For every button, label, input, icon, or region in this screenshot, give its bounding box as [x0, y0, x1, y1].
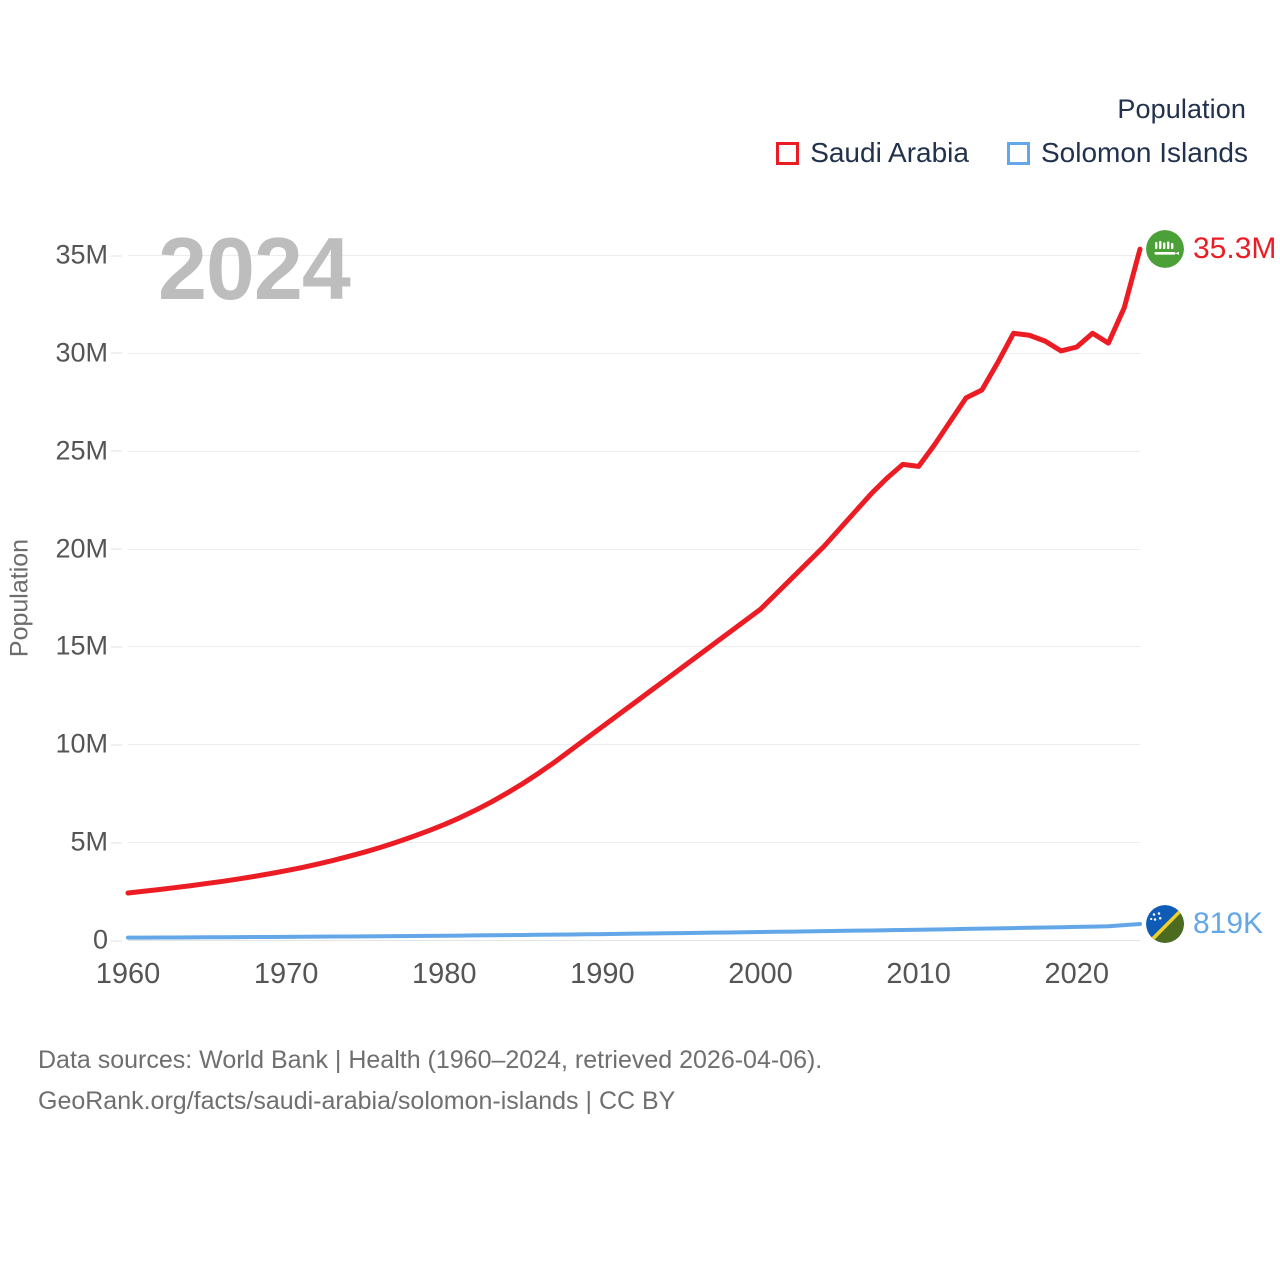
x-axis-tick-label: 2000: [728, 958, 793, 991]
legend-swatch-icon-solomon-islands: [1007, 142, 1030, 165]
line-saudi-arabia[interactable]: [128, 249, 1140, 893]
endpoint-solomon-islands[interactable]: 819K: [1146, 905, 1263, 943]
x-axis-tick-label: 1960: [96, 958, 161, 991]
legend-item-saudi-arabia[interactable]: Saudi Arabia: [776, 139, 969, 167]
endpoint-value-saudi-arabia: 35.3M: [1193, 232, 1276, 266]
chart-page: Population Saudi Arabia Solomon Islands …: [0, 0, 1280, 1280]
endpoint-value-solomon-islands: 819K: [1193, 907, 1263, 941]
footer-line-1: Data sources: World Bank | Health (1960–…: [38, 1040, 822, 1081]
plot-area: Population 05M10M15M20M25M30M35M 2024 19…: [128, 255, 1140, 940]
x-axis-tick-label: 1990: [570, 958, 635, 991]
y-axis-tick-label: 15M: [0, 631, 122, 662]
saudi-arabia-flag-icon: [1146, 230, 1184, 268]
gridline: [128, 940, 1140, 941]
y-axis-tick-label: 20M: [0, 533, 122, 564]
solomon-islands-flag-icon: [1146, 905, 1184, 943]
series-lines: [128, 255, 1140, 940]
line-solomon-islands[interactable]: [128, 924, 1140, 938]
legend-items: Saudi Arabia Solomon Islands: [0, 139, 1248, 167]
y-axis-tick-label: 0: [0, 925, 122, 956]
legend-title: Population: [0, 96, 1248, 123]
legend-swatch-icon-saudi-arabia: [776, 142, 799, 165]
endpoint-saudi-arabia[interactable]: 35.3M: [1146, 230, 1276, 268]
y-axis-tick-label: 5M: [0, 827, 122, 858]
x-axis-tick-label: 1970: [254, 958, 319, 991]
y-axis-tick-label: 25M: [0, 435, 122, 466]
legend-label-saudi-arabia: Saudi Arabia: [810, 139, 969, 167]
footer-line-2: GeoRank.org/facts/saudi-arabia/solomon-i…: [38, 1081, 822, 1122]
x-axis-tick-label: 2020: [1044, 958, 1109, 991]
legend-item-solomon-islands[interactable]: Solomon Islands: [1007, 139, 1248, 167]
footer-sources: Data sources: World Bank | Health (1960–…: [38, 1040, 822, 1121]
y-axis-tick-label: 30M: [0, 337, 122, 368]
x-axis-tick-label: 2010: [886, 958, 951, 991]
legend: Population Saudi Arabia Solomon Islands: [0, 96, 1248, 167]
y-axis-tick-label: 35M: [0, 240, 122, 271]
y-axis-tick-label: 10M: [0, 729, 122, 760]
x-axis-tick-label: 1980: [412, 958, 477, 991]
legend-label-solomon-islands: Solomon Islands: [1041, 139, 1248, 167]
